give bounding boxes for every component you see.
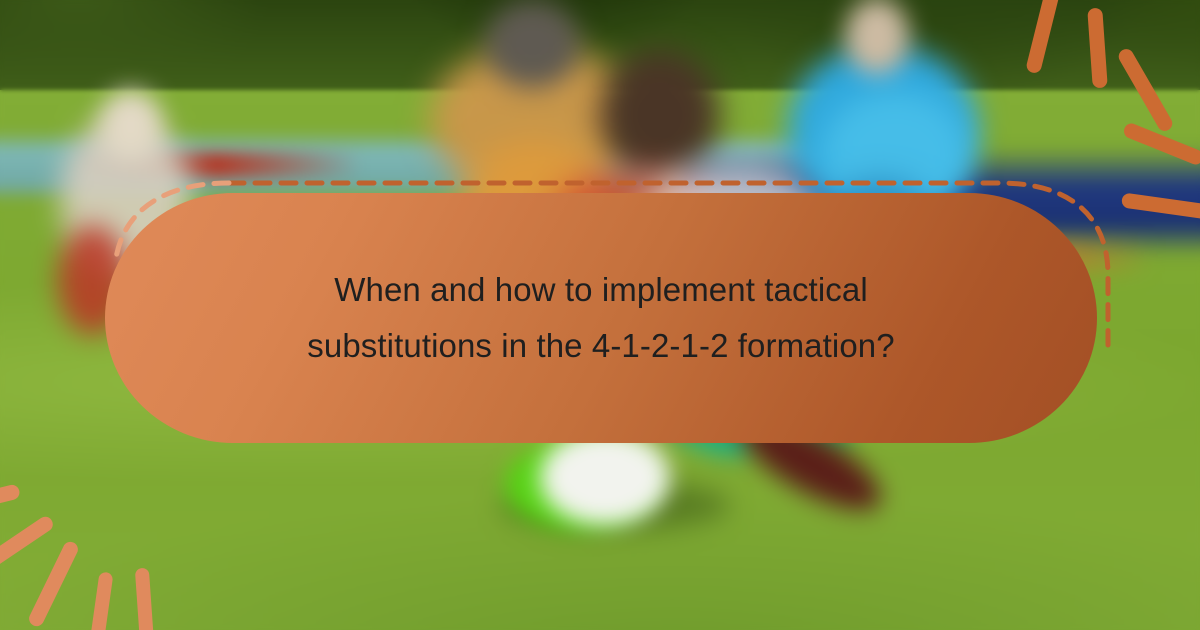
- quote-card: When and how to implement tactical subst…: [105, 193, 1097, 443]
- ray-3: [27, 539, 81, 628]
- ray-burst-bottom-left-icon: [0, 450, 186, 630]
- ray-4: [89, 571, 114, 630]
- ray-1: [0, 483, 21, 518]
- ray-burst-top-right-icon: [998, 0, 1200, 194]
- quote-card-graphic: When and how to implement tactical subst…: [0, 0, 1200, 630]
- ray-5: [135, 568, 155, 630]
- ray-2: [1087, 8, 1108, 89]
- ray-3: [1116, 46, 1175, 133]
- card-title: When and how to implement tactical subst…: [251, 262, 951, 374]
- ray-1: [1025, 0, 1062, 74]
- ray-2: [0, 514, 56, 572]
